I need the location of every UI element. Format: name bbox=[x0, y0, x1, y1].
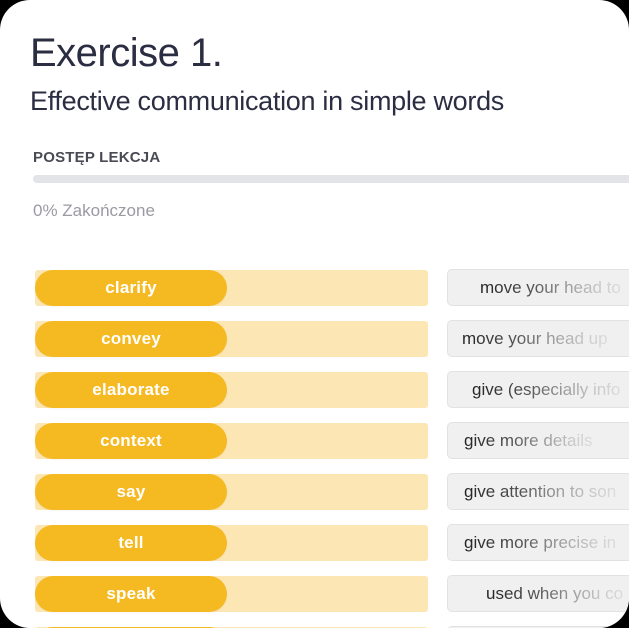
exercise-row: saygive attention to son bbox=[0, 466, 629, 517]
exercise-row: conveymove your head up bbox=[0, 313, 629, 364]
word-pill[interactable]: convey bbox=[35, 321, 227, 357]
word-pill-label: convey bbox=[101, 329, 161, 349]
word-pill-label: speak bbox=[106, 584, 155, 604]
definition-text: give attention to son bbox=[464, 482, 616, 502]
word-drop-slot[interactable]: elaborate bbox=[35, 372, 428, 408]
word-drop-slot[interactable]: convey bbox=[35, 321, 428, 357]
exercise-row: elaborategive (especially info bbox=[0, 364, 629, 415]
word-pill[interactable]: context bbox=[35, 423, 227, 459]
lesson-progress: POSTĘP LEKCJA 0% Zakończone bbox=[0, 149, 629, 221]
definition-text: give (especially info bbox=[472, 380, 620, 400]
word-pill[interactable]: say bbox=[35, 474, 227, 510]
exercise-row: tellgive more precise in bbox=[0, 517, 629, 568]
lesson-header: Exercise 1. Effective communication in s… bbox=[0, 0, 629, 117]
definition-text: give more precise in bbox=[464, 533, 616, 553]
word-pill[interactable]: elaborate bbox=[35, 372, 227, 408]
definition-text: used when you co bbox=[486, 584, 623, 604]
exercise-row: speakused when you co bbox=[0, 619, 629, 628]
exercise-row: contextgive more details bbox=[0, 415, 629, 466]
word-pill-label: say bbox=[117, 482, 146, 502]
definition-chip[interactable]: give more precise in bbox=[447, 524, 629, 561]
definition-chip[interactable]: give attention to son bbox=[447, 473, 629, 510]
word-pill-label: tell bbox=[118, 533, 143, 553]
definition-chip[interactable]: used when you co bbox=[447, 575, 629, 612]
definition-chip[interactable]: move your head to bbox=[447, 269, 629, 306]
word-drop-slot[interactable]: say bbox=[35, 474, 428, 510]
word-pill-label: elaborate bbox=[92, 380, 169, 400]
progress-label: POSTĘP LEKCJA bbox=[33, 149, 629, 166]
word-pill[interactable]: speak bbox=[35, 576, 227, 612]
word-pill-label: clarify bbox=[105, 278, 157, 298]
exercise-match-grid: clarifymove your head toconveymove your … bbox=[0, 262, 629, 628]
word-drop-slot[interactable]: clarify bbox=[35, 270, 428, 306]
progress-bar bbox=[33, 175, 629, 183]
word-drop-slot[interactable]: tell bbox=[35, 525, 428, 561]
definition-chip[interactable]: give more details bbox=[447, 422, 629, 459]
word-drop-slot[interactable]: speak bbox=[35, 576, 428, 612]
word-pill[interactable]: tell bbox=[35, 525, 227, 561]
lesson-card: Exercise 1. Effective communication in s… bbox=[0, 0, 629, 628]
exercise-row: clarifymove your head to bbox=[0, 262, 629, 313]
definition-chip[interactable]: move your head up bbox=[447, 320, 629, 357]
definition-chip[interactable]: give (especially info bbox=[447, 371, 629, 408]
page-subtitle: Effective communication in simple words bbox=[30, 86, 599, 117]
word-drop-slot[interactable]: context bbox=[35, 423, 428, 459]
exercise-row: speakused when you co bbox=[0, 568, 629, 619]
progress-status-text: 0% Zakończone bbox=[33, 201, 629, 221]
definition-text: move your head to bbox=[480, 278, 621, 298]
word-pill-label: context bbox=[100, 431, 162, 451]
word-pill[interactable]: clarify bbox=[35, 270, 227, 306]
definition-text: give more details bbox=[464, 431, 593, 451]
page-title: Exercise 1. bbox=[30, 32, 599, 74]
definition-text: move your head up bbox=[462, 329, 608, 349]
